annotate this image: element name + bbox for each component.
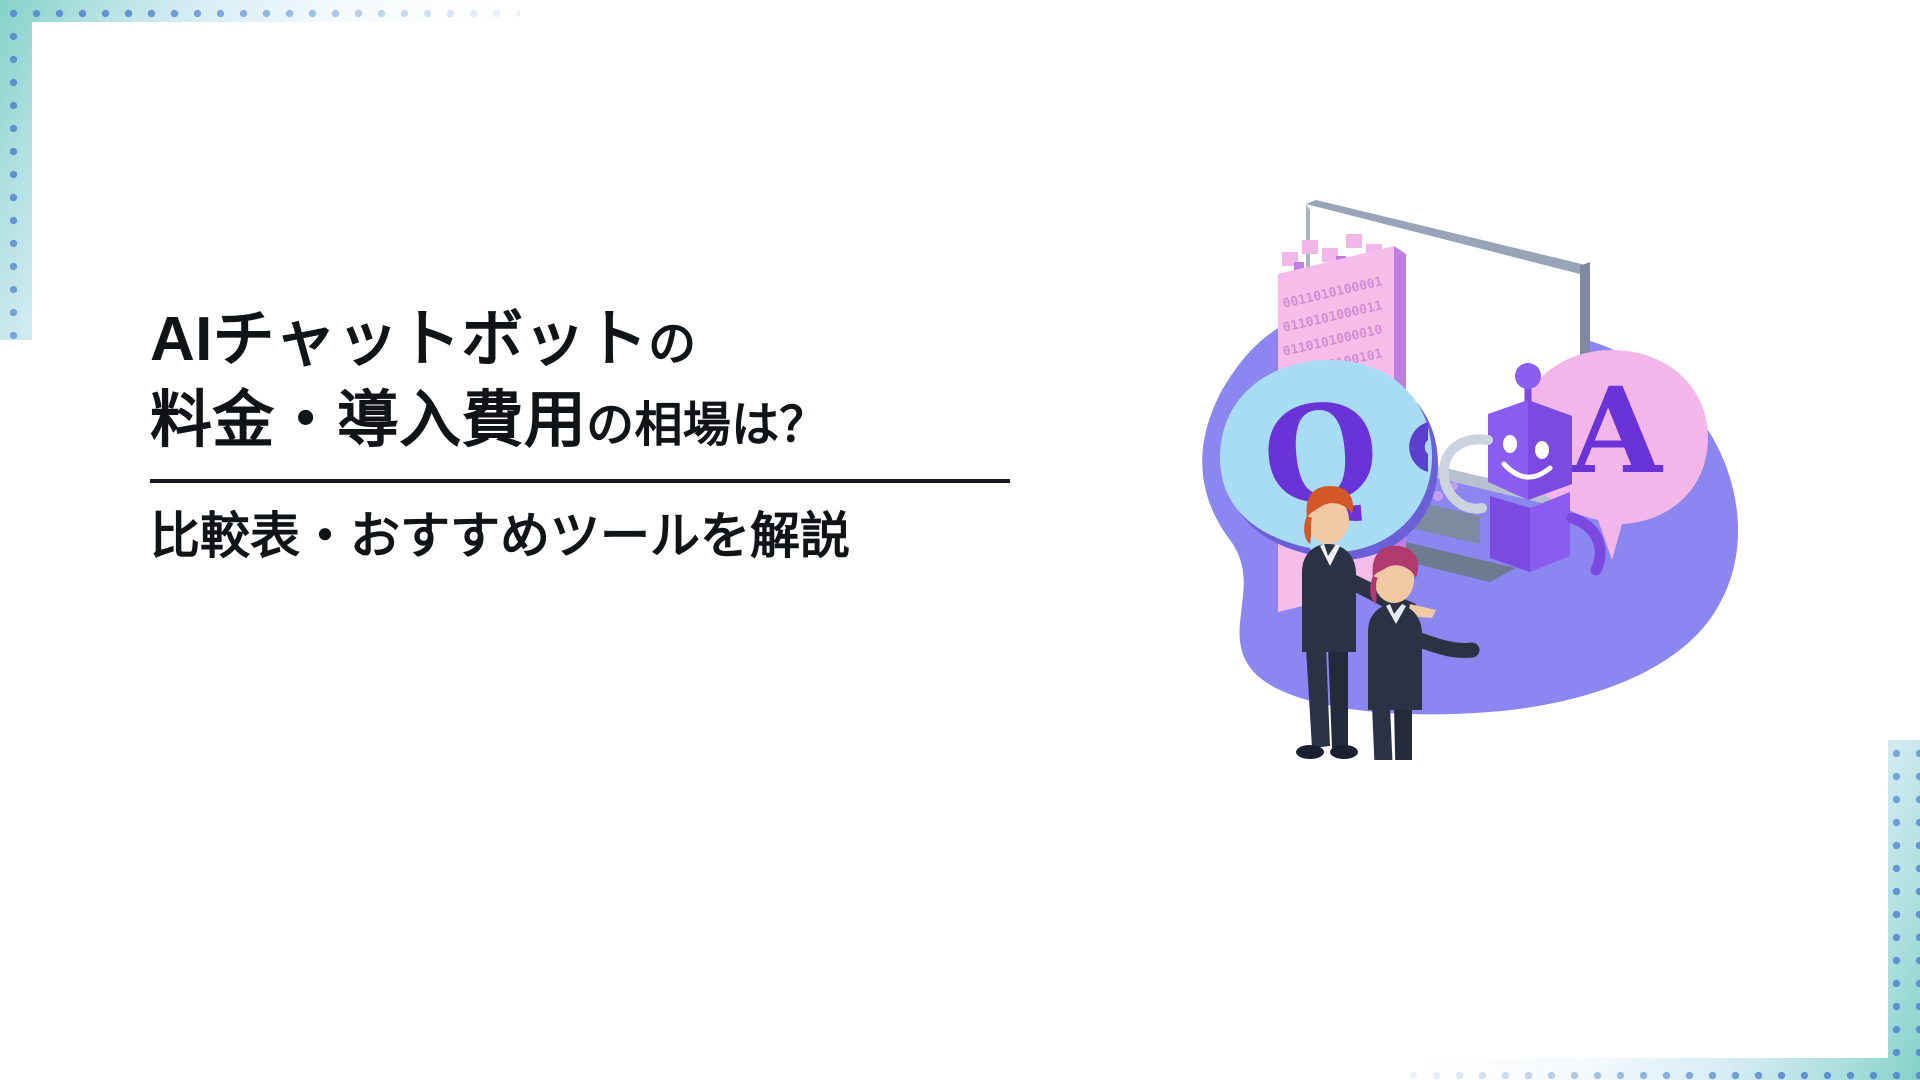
answer-letter: A	[1569, 361, 1663, 500]
title-particle-2: の相場は？	[586, 399, 828, 452]
title-particle-1: の	[648, 318, 696, 371]
ai-chatbot-qa-illustration: 0011010100001 0110101000011 011010100001…	[1160, 200, 1780, 760]
title-emphasis-2: 料金・導入費用	[150, 386, 586, 455]
headline-block: AIチャットボットの 料金・導入費用の相場は？ 比較表・おすすめツールを解説	[150, 300, 1070, 568]
eyecatch-canvas: AIチャットボットの 料金・導入費用の相場は？ 比較表・おすすめツールを解説	[0, 0, 1920, 1080]
title-emphasis-1: AIチャットボット	[150, 305, 648, 374]
title-divider	[150, 479, 1010, 483]
page-title-line-1: AIチャットボットの	[150, 300, 1070, 381]
page-subtitle: 比較表・おすすめツールを解説	[150, 505, 1070, 568]
hero-illustration: 0011010100001 0110101000011 011010100001…	[1160, 200, 1780, 760]
page-title-line-2: 料金・導入費用の相場は？	[150, 381, 1070, 462]
